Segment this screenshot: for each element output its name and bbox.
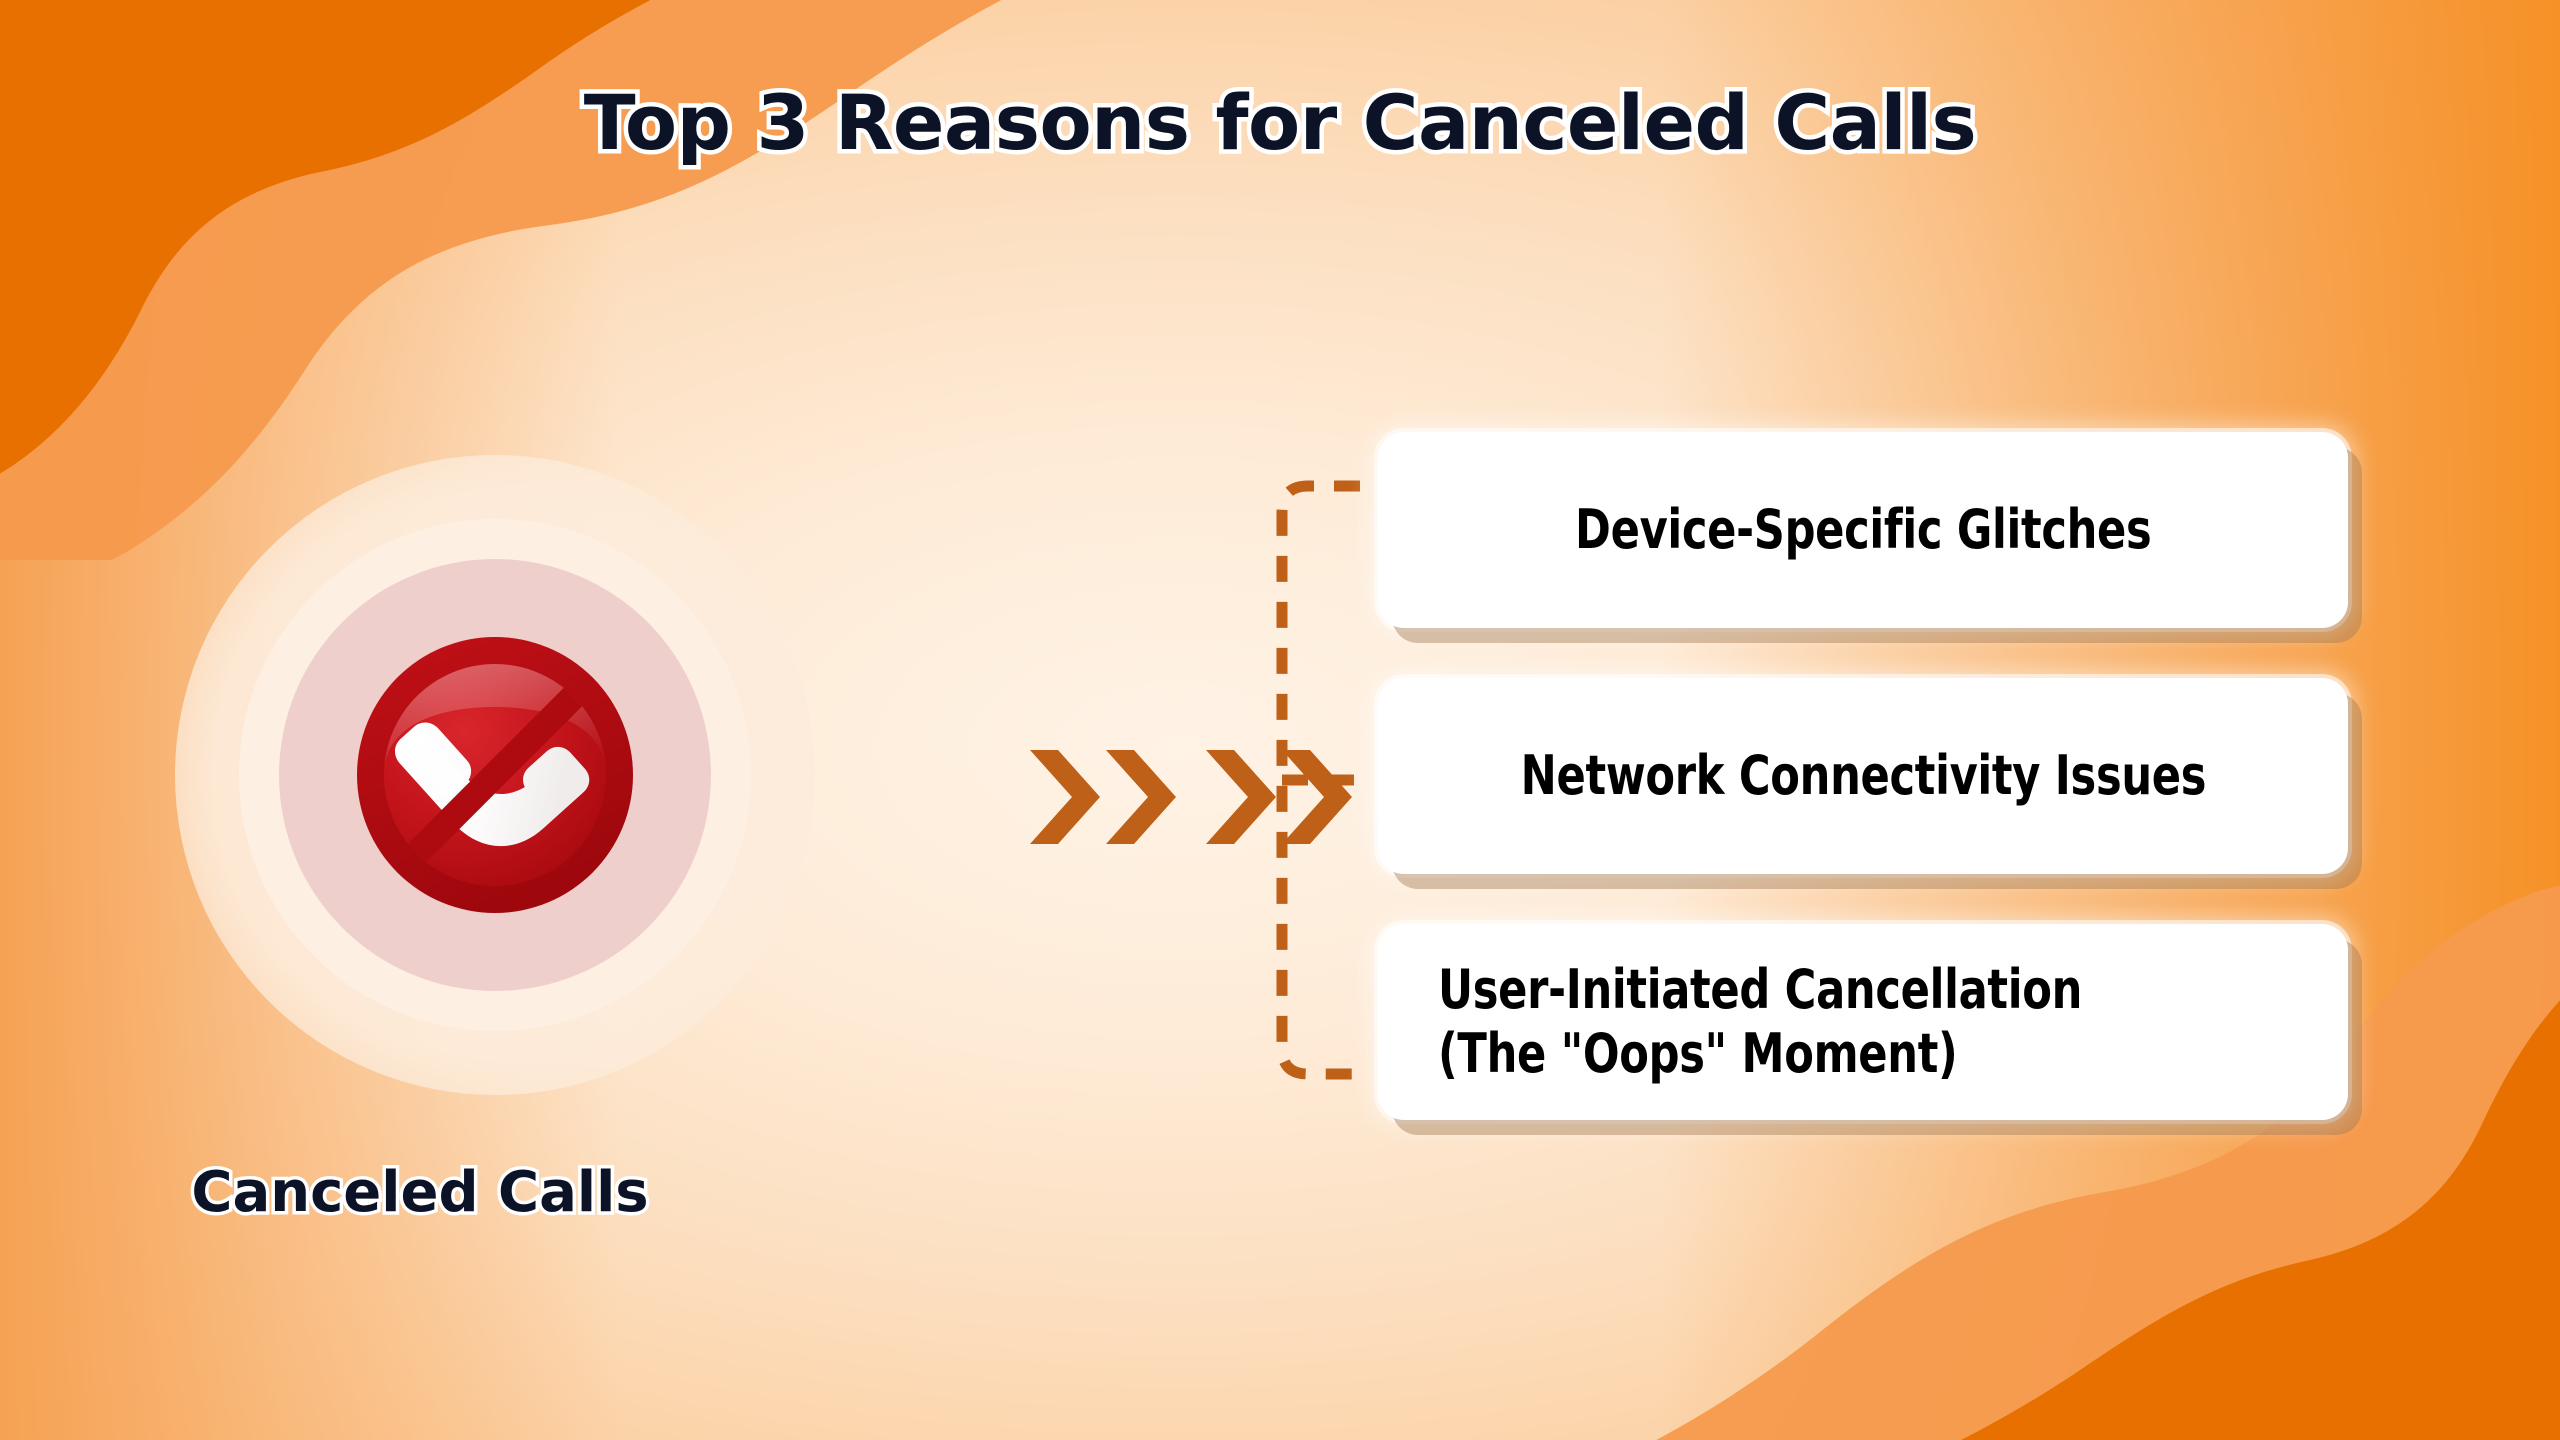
reason-card-line: User-Initiated Cancellation (1438, 958, 2082, 1022)
infographic-canvas: Top 3 Reasons for Canceled Calls (0, 0, 2560, 1440)
reason-card-text: Network Connectivity Issues (1520, 744, 2205, 808)
reason-card-text: User-Initiated Cancellation (The "Oops" … (1438, 958, 2082, 1085)
subject-icon-cluster (150, 430, 840, 1120)
reason-card-user-initiated-cancellation[interactable]: User-Initiated Cancellation (The "Oops" … (1378, 924, 2348, 1120)
subject-caption: Canceled Calls (0, 1160, 840, 1225)
reason-card-device-specific-glitches[interactable]: Device-Specific Glitches (1378, 432, 2348, 628)
no-call-icon (353, 633, 637, 917)
chevron-pair-1 (1028, 748, 1178, 846)
reason-card-line: Device-Specific Glitches (1575, 498, 2151, 562)
reason-cards-list: Device-Specific Glitches Network Connect… (1378, 432, 2378, 1120)
reason-card-line: Network Connectivity Issues (1520, 744, 2205, 808)
page-title: Top 3 Reasons for Canceled Calls (0, 78, 2560, 167)
reason-card-line: (The "Oops" Moment) (1438, 1022, 2082, 1086)
reason-card-text: Device-Specific Glitches (1575, 498, 2151, 562)
reason-card-network-connectivity-issues[interactable]: Network Connectivity Issues (1378, 678, 2348, 874)
